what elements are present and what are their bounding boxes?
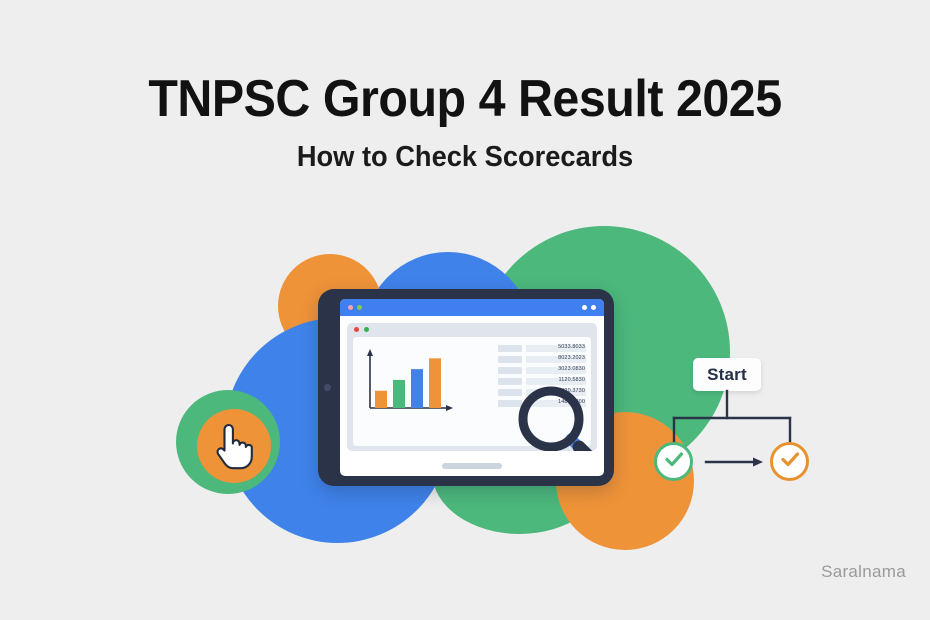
row-bar: 8023.2023 [526,356,586,363]
flowchart: Start [648,358,838,482]
browser-dot-white-2-icon [591,305,596,310]
card-content: 5033.80338023.20233023.08301120.58305420… [353,337,591,446]
browser-viewport: 5033.80338023.20233023.08301120.58305420… [340,316,604,476]
chart-bar [393,380,405,408]
row-swatch [498,356,522,363]
flow-check-node-right[interactable] [770,442,809,481]
chart-bar [411,369,423,408]
browser-dot-pink-icon [348,305,353,310]
bar-chart [361,345,456,419]
card-titlebar [347,323,597,336]
flow-arrow-icon [753,458,763,467]
chart-bar [429,358,441,408]
poster-canvas: TNPSC Group 4 Result 2025 How to Check S… [0,0,930,620]
row-bar: 3023.0830 [526,367,586,374]
tablet-camera-icon [324,384,331,391]
pointing-hand-icon [212,418,256,475]
browser-window-controls[interactable] [578,305,596,310]
chart-bar [375,391,387,408]
table-row: 8023.2023 [498,356,586,363]
check-circle-icon [779,448,801,475]
magnifier-icon [513,381,597,451]
check-circle-icon [663,448,685,475]
flow-check-node-left[interactable] [654,442,693,481]
x-axis-arrow-icon [446,405,453,411]
row-bar: 5033.8033 [526,345,586,352]
row-value: 3023.0830 [558,366,585,372]
row-value: 8023.2023 [558,355,585,361]
browser-dot-lime-icon [357,305,362,310]
browser-titlebar [340,299,604,316]
chart-bars [375,358,441,408]
row-value: 5033.8033 [558,344,585,350]
row-swatch [498,345,522,352]
cursor-badge [197,409,271,483]
watermark: Saralnama [821,562,906,582]
home-indicator [442,463,502,469]
card-dot-red-icon [354,327,359,332]
page-title: TNPSC Group 4 Result 2025 [33,72,898,127]
result-card: 5033.80338023.20233023.08301120.58305420… [347,323,597,451]
y-axis-arrow-icon [367,349,373,356]
heading-block: TNPSC Group 4 Result 2025 How to Check S… [0,72,930,174]
card-dot-green-icon [364,327,369,332]
table-row: 5033.8033 [498,345,586,352]
row-swatch [498,367,522,374]
page-subtitle: How to Check Scorecards [28,141,902,174]
browser-dot-white-1-icon [582,305,587,310]
table-row: 3023.0830 [498,367,586,374]
tablet-screen: 5033.80338023.20233023.08301120.58305420… [340,299,604,476]
tablet-device: 5033.80338023.20233023.08301120.58305420… [318,289,614,486]
